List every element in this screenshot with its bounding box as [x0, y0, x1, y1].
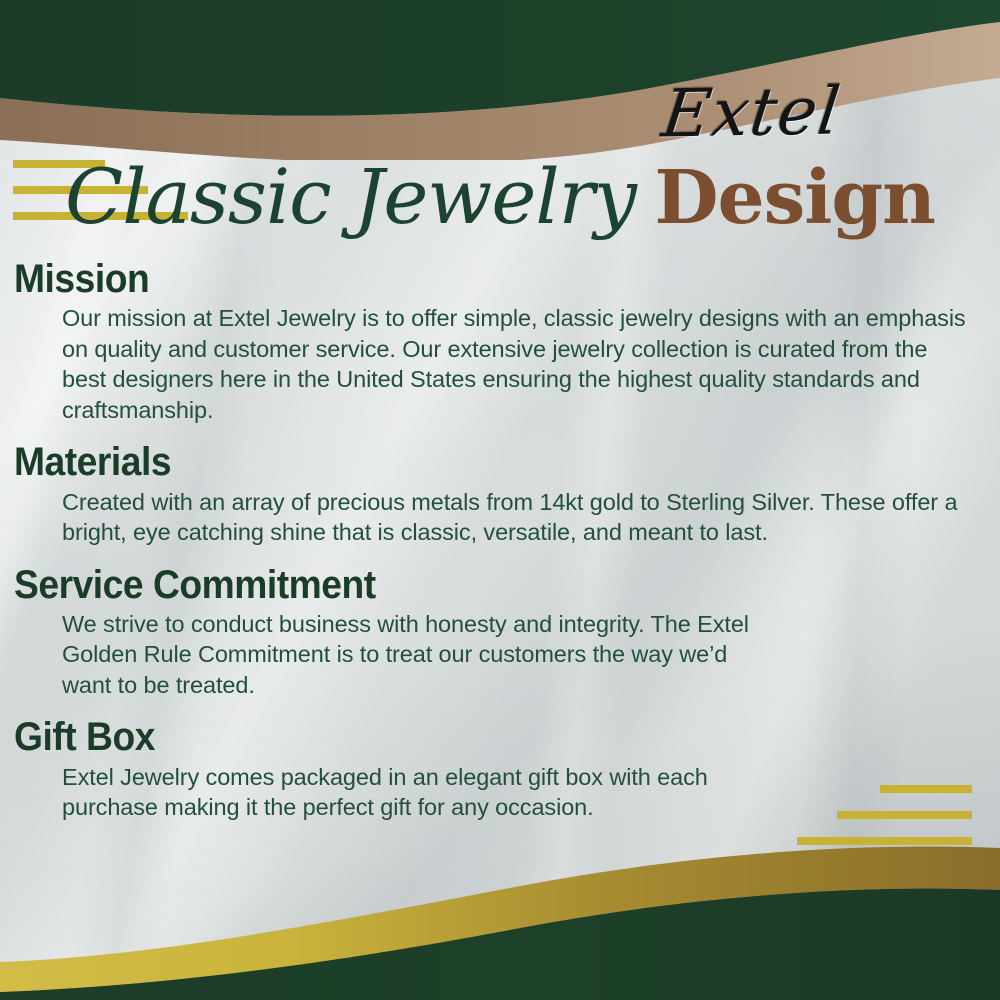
section-heading: Materials: [14, 441, 931, 484]
section-heading: Gift Box: [14, 716, 931, 759]
section-service-commitment: Service Commitment We strive to conduct …: [0, 564, 1000, 701]
poster-canvas: Extel Classic Jewelry Design Mission Our…: [0, 0, 1000, 1000]
top-wave-decoration: [0, 0, 1000, 160]
section-mission: Mission Our mission at Extel Jewelry is …: [0, 258, 1000, 425]
section-paragraph: Our mission at Extel Jewelry is to offer…: [62, 303, 966, 425]
title-accent-text: Design: [654, 155, 935, 241]
brand-logo-wordmark: Extel: [658, 72, 845, 152]
section-materials: Materials Created with an array of preci…: [0, 441, 1000, 547]
section-paragraph: Created with an array of precious metals…: [62, 487, 966, 548]
poster-title: Classic Jewelry Design: [0, 152, 1000, 241]
section-paragraph: We strive to conduct business with hones…: [62, 609, 770, 701]
sections-container: Mission Our mission at Extel Jewelry is …: [0, 258, 1000, 839]
section-paragraph: Extel Jewelry comes packaged in an elega…: [62, 762, 770, 823]
section-heading: Mission: [14, 258, 931, 301]
section-gift-box: Gift Box Extel Jewelry comes packaged in…: [0, 716, 1000, 822]
section-heading: Service Commitment: [14, 564, 931, 607]
title-main-text: Classic Jewelry: [65, 152, 636, 241]
